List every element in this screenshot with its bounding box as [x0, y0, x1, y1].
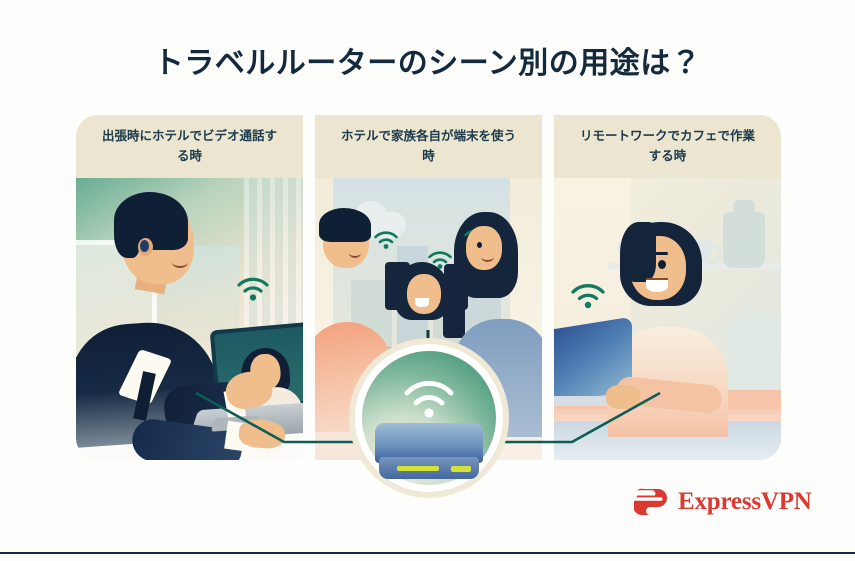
travel-router-device	[375, 423, 483, 479]
wifi-icon	[404, 380, 454, 423]
router-led-indicator	[451, 466, 471, 472]
infographic-canvas: トラベルルーターのシーン別の用途は？	[0, 0, 855, 561]
expressvpn-e-icon	[634, 486, 668, 518]
expressvpn-logo: ExpressVPN	[634, 486, 812, 518]
router-led-indicator	[397, 466, 439, 471]
expressvpn-wordmark: ExpressVPN	[678, 488, 812, 516]
